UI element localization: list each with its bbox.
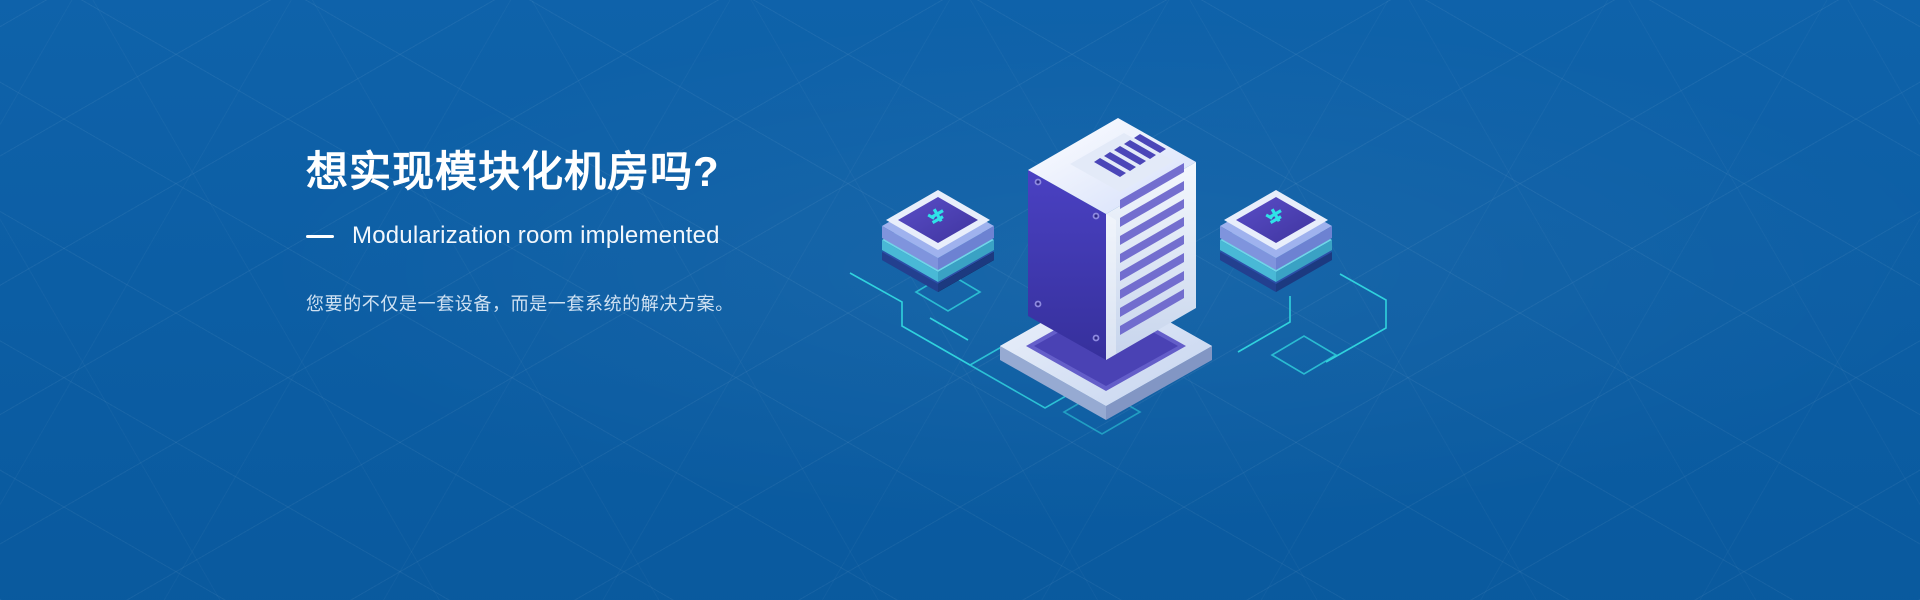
chip-module-right xyxy=(1220,190,1332,292)
dash-rule-icon xyxy=(306,235,334,238)
hero-banner: 想实现模块化机房吗? Modularization room implement… xyxy=(0,0,1920,600)
isometric-server-illustration xyxy=(820,60,1440,460)
server-tower xyxy=(1000,118,1212,420)
subtitle: Modularization room implemented xyxy=(352,222,720,250)
chip-module-left xyxy=(882,190,994,292)
